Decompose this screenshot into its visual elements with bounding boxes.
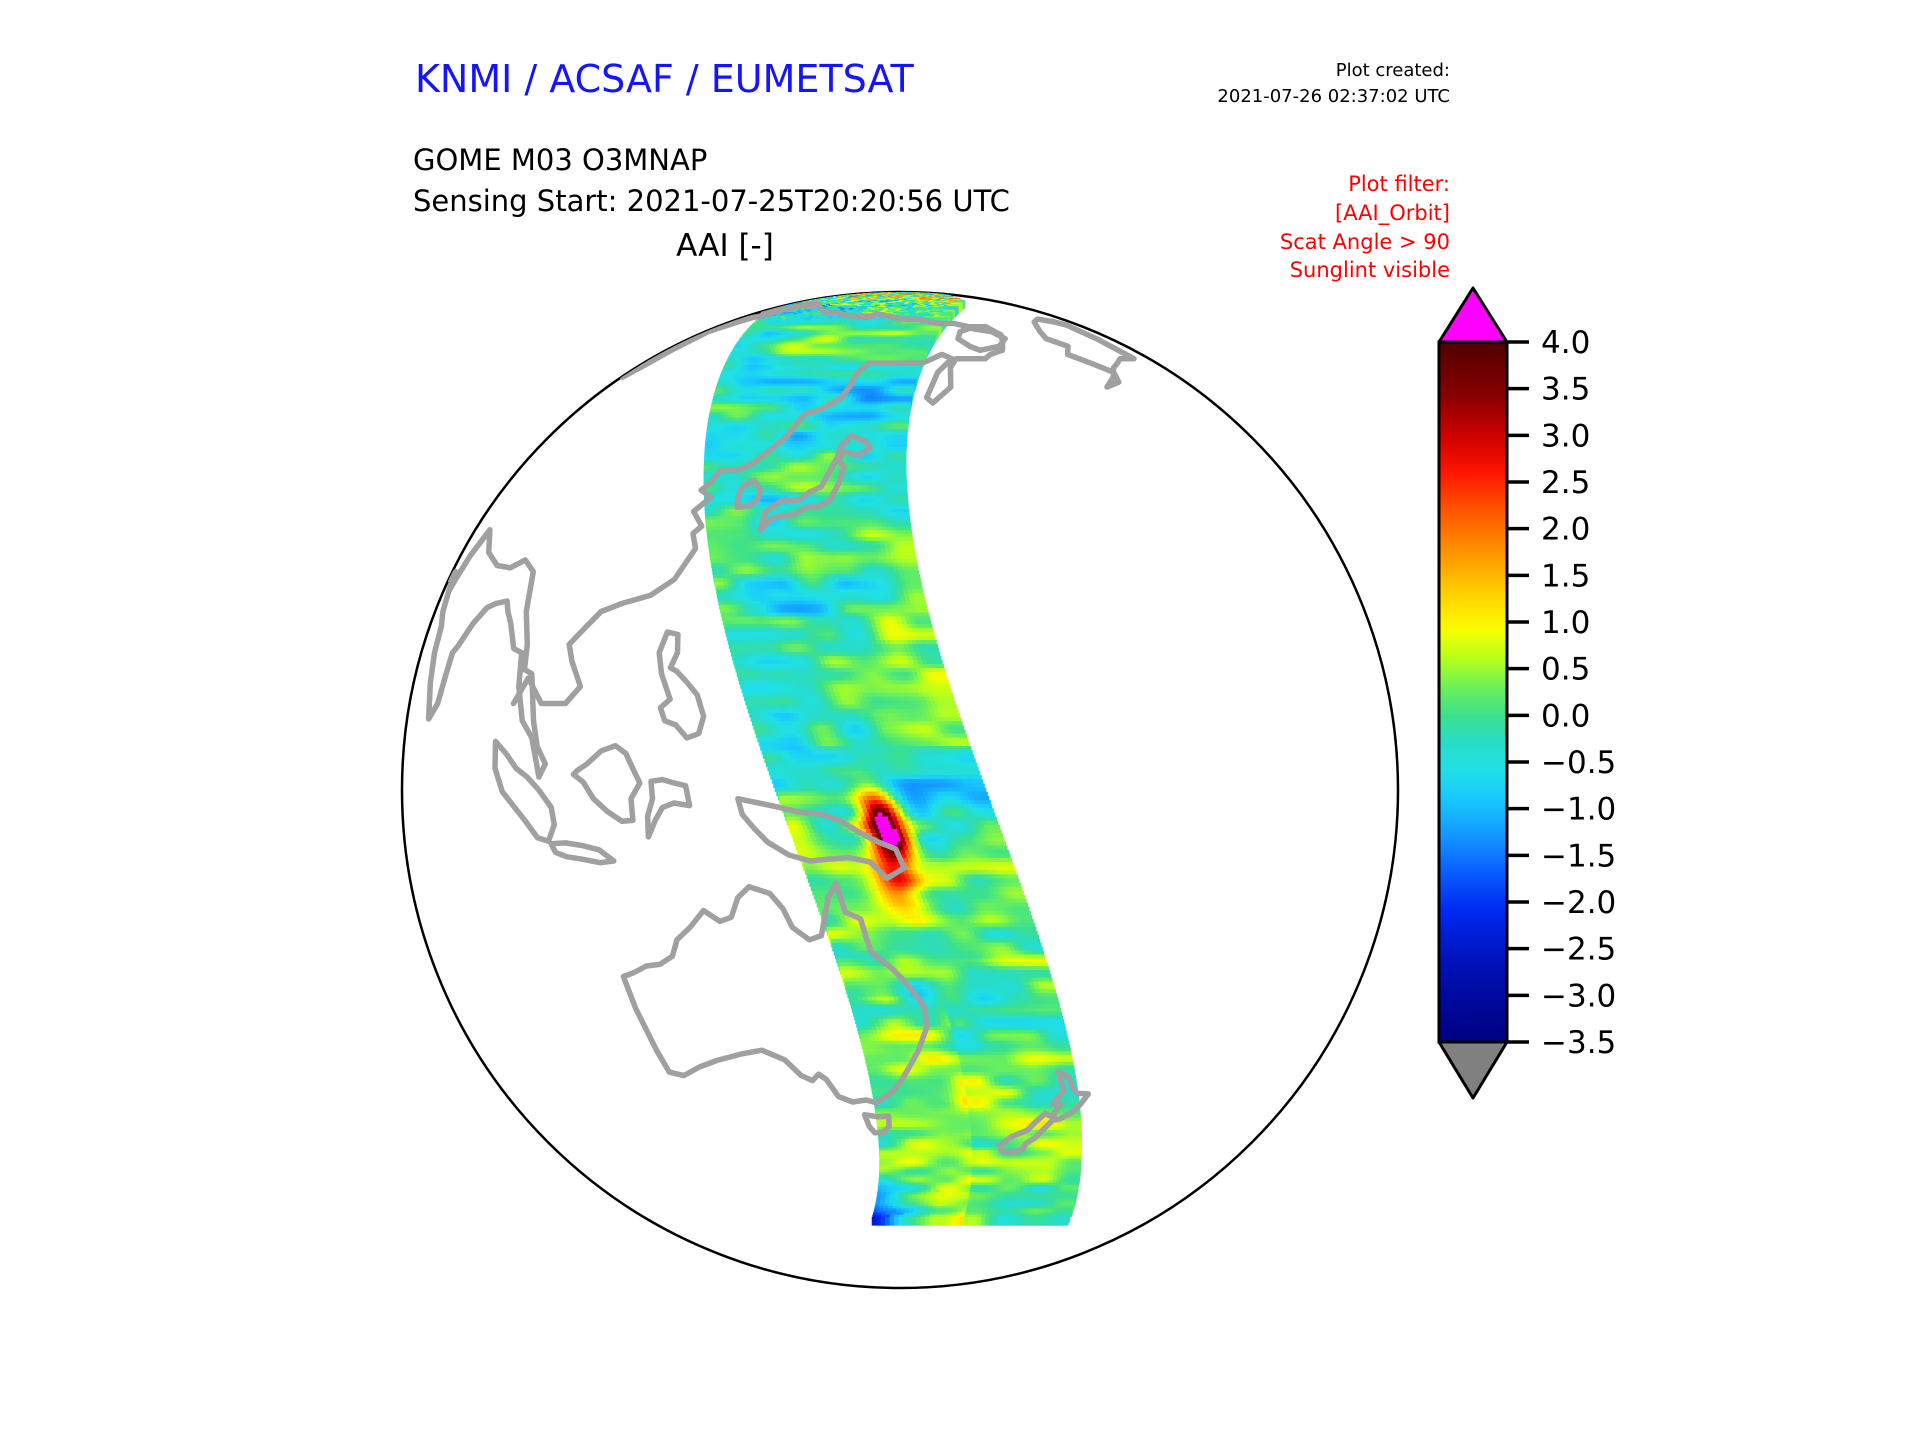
colorbar-tick-label: −0.5: [1541, 745, 1616, 781]
colorbar-tick-label: 2.0: [1541, 512, 1590, 548]
product-name: GOME M03 O3MNAP: [413, 140, 1010, 181]
sensing-start: Sensing Start: 2021-07-25T20:20:56 UTC: [413, 181, 1010, 222]
plot-filter-scat-angle: Scat Angle > 90: [1120, 228, 1450, 257]
colorbar-tick-label: −2.5: [1541, 932, 1616, 968]
colorbar-tick-label: 3.0: [1541, 418, 1590, 454]
colorbar-tick-label: 0.5: [1541, 652, 1590, 688]
colorbar-tick-label: 1.0: [1541, 605, 1590, 641]
colorbar-over-arrow: [1439, 288, 1507, 342]
colorbar-tick-label: 2.5: [1541, 465, 1590, 501]
colorbar[interactable]: 4.03.53.02.52.01.51.00.50.0−0.5−1.0−1.5−…: [1425, 280, 1685, 1110]
colorbar-tick-label: 0.0: [1541, 698, 1590, 734]
map-globe[interactable]: [380, 270, 1420, 1310]
map-svg: [380, 270, 1420, 1310]
colorbar-tick-label: −3.0: [1541, 978, 1616, 1014]
colorbar-tick-label: 3.5: [1541, 372, 1590, 408]
colorbar-tick-label: −3.5: [1541, 1025, 1616, 1061]
plot-filter-name: [AAI_Orbit]: [1120, 199, 1450, 228]
plot-filter-label: Plot filter:: [1120, 170, 1450, 199]
colorbar-tick-label: −1.5: [1541, 838, 1616, 874]
colorbar-tick-label: −1.0: [1541, 792, 1616, 828]
colorbar-gradient: [1439, 342, 1507, 1042]
colorbar-tick-label: −2.0: [1541, 885, 1616, 921]
product-info-block: GOME M03 O3MNAP Sensing Start: 2021-07-2…: [413, 140, 1010, 222]
plot-filter-block: Plot filter: [AAI_Orbit] Scat Angle > 90…: [1120, 170, 1450, 285]
colorbar-tick-label: 1.5: [1541, 558, 1590, 594]
colorbar-under-arrow: [1439, 1042, 1507, 1098]
colorbar-ticks: 4.03.53.02.52.01.51.00.50.0−0.5−1.0−1.5−…: [1507, 325, 1616, 1061]
plot-created-label: Plot created:: [1060, 58, 1450, 84]
plot-created-timestamp: 2021-07-26 02:37:02 UTC: [1060, 84, 1450, 110]
organisation-title: KNMI / ACSAF / EUMETSAT: [415, 57, 914, 101]
plot-created-block: Plot created: 2021-07-26 02:37:02 UTC: [1060, 58, 1450, 110]
colorbar-svg: 4.03.53.02.52.01.51.00.50.0−0.5−1.0−1.5−…: [1425, 280, 1685, 1110]
colorbar-tick-label: 4.0: [1541, 325, 1590, 361]
